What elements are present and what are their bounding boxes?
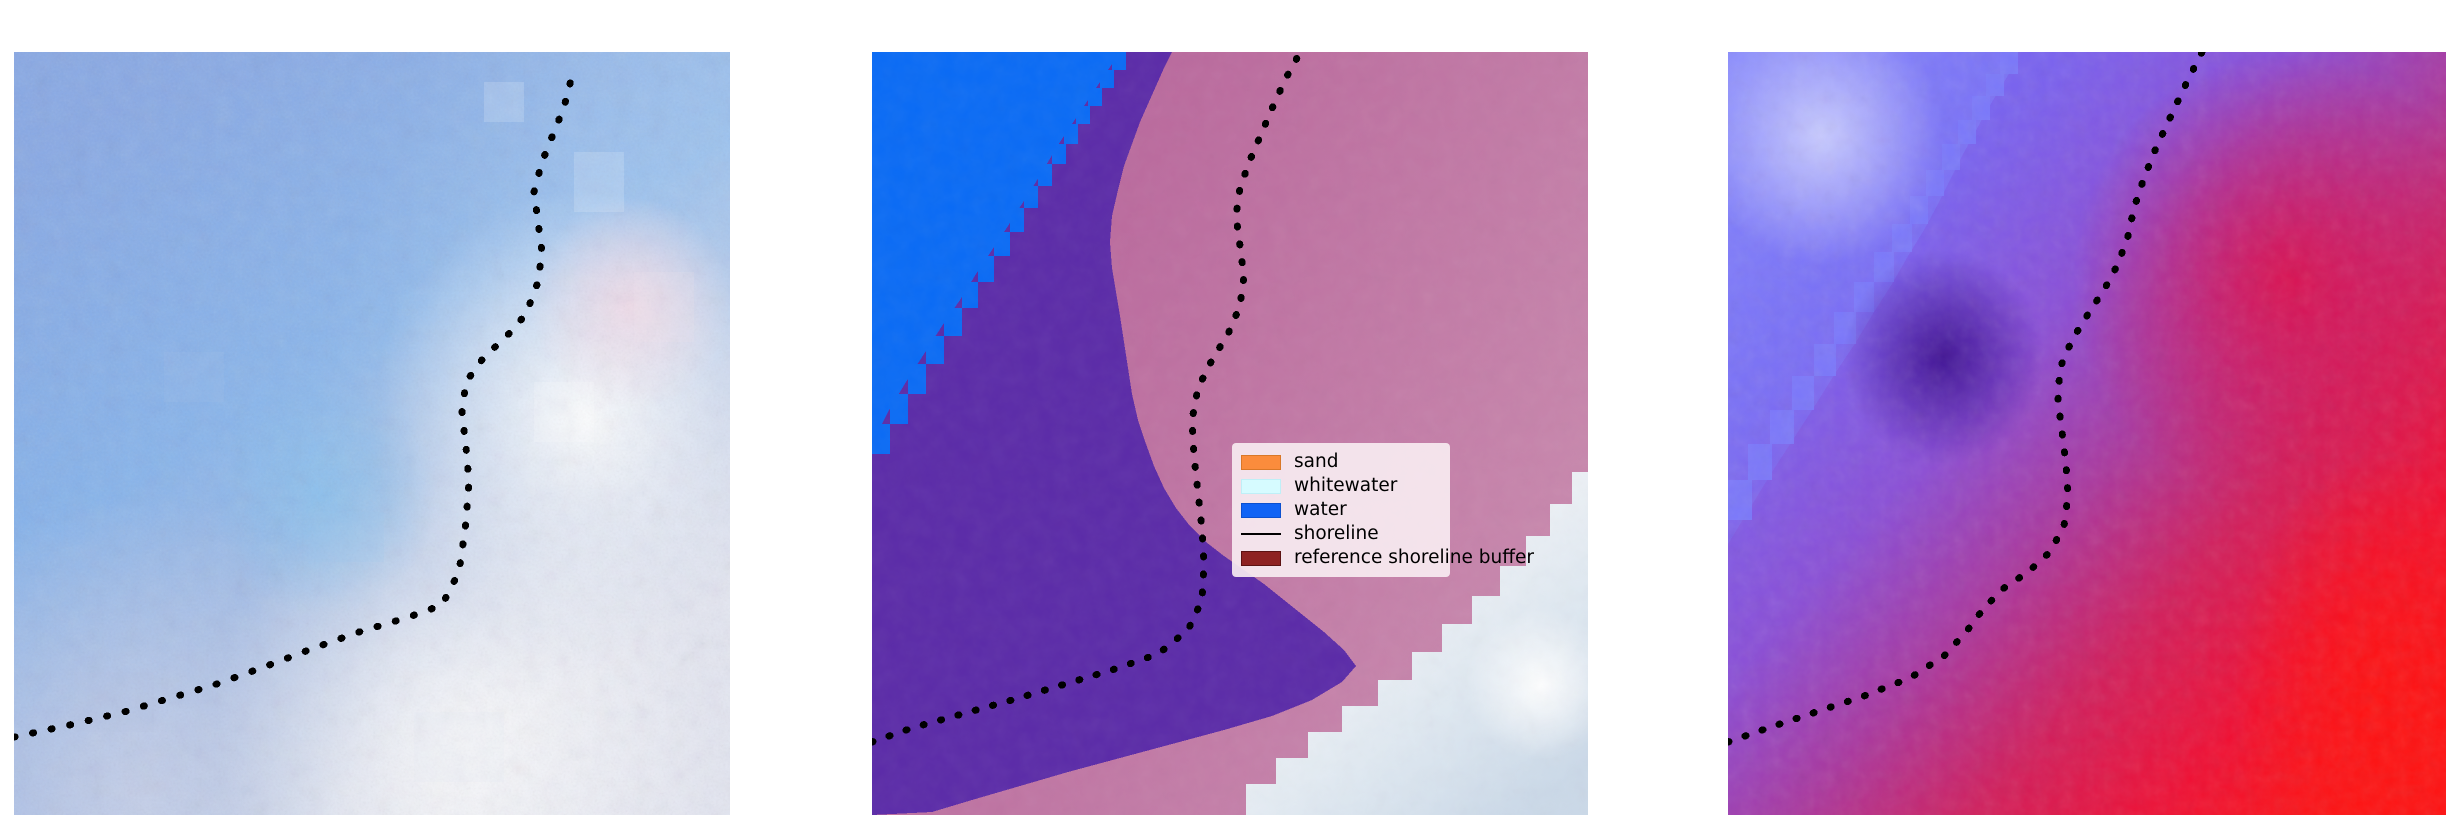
legend-item-water: water (1241, 498, 1444, 522)
reference-shoreline-buffer-swatch-icon (1241, 551, 1281, 566)
panel-l5[interactable]: L5 (1728, 52, 2446, 815)
legend-item-whitewater: whitewater (1241, 474, 1444, 498)
legend-label-whitewater: whitewater (1294, 477, 1397, 496)
legend-item-sand: sand (1241, 450, 1444, 474)
l5-raster-image (1728, 52, 2446, 815)
water-swatch-icon (1241, 503, 1281, 518)
legend-label-sand: sand (1294, 453, 1338, 472)
legend-label-reference-shoreline-buffer: reference shoreline buffer (1294, 549, 1534, 568)
panel-classified-image[interactable]: 1990-06-15-09-32-04 (872, 52, 1588, 815)
panel-sar2215[interactable]: sar2215 (14, 52, 730, 815)
legend-label-shoreline: shoreline (1294, 525, 1379, 544)
whitewater-swatch-icon (1241, 479, 1281, 494)
legend-label-water: water (1294, 501, 1347, 520)
classified-raster-image (872, 52, 1588, 815)
shoreline-line-icon (1241, 527, 1281, 542)
legend-item-shoreline: shoreline (1241, 522, 1444, 546)
legend-item-reference-shoreline-buffer: reference shoreline buffer (1241, 546, 1444, 570)
sar-raster-image (14, 52, 730, 815)
legend-box: sand whitewater water shoreline referenc… (1232, 443, 1450, 577)
sand-swatch-icon (1241, 455, 1281, 470)
figure-canvas: sar2215 (0, 0, 2460, 834)
